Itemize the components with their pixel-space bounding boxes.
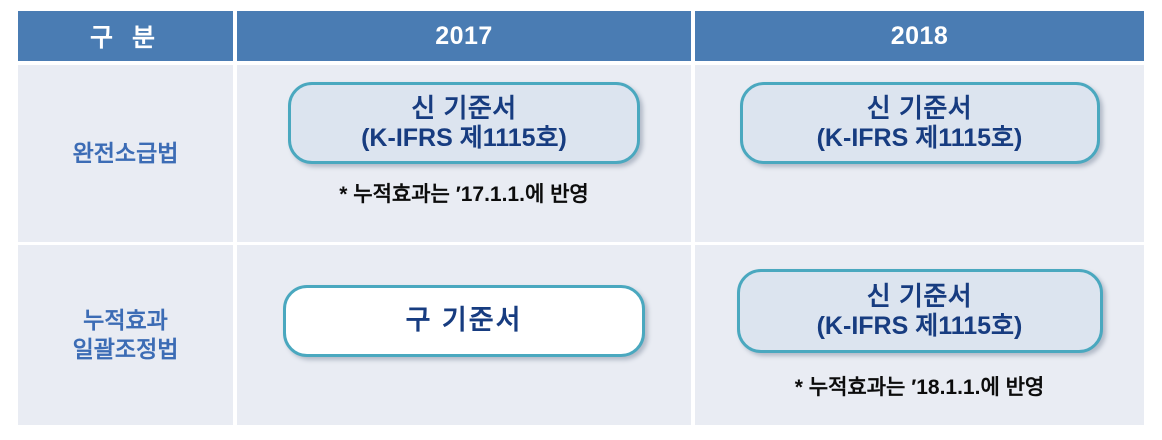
table-row: 완전소급법 신 기준서 (K-IFRS 제1115호) * 누적효과는 ′17.…	[18, 65, 1144, 242]
column-header-2018: 2018	[695, 11, 1144, 61]
table-header-row: 구 분 2017 2018	[18, 11, 1144, 61]
standard-box-subtitle: (K-IFRS 제1115호)	[817, 312, 1023, 342]
column-header-2017: 2017	[237, 11, 695, 61]
standard-box-title: 신 기준서	[867, 93, 972, 124]
column-header-category: 구 분	[18, 11, 237, 61]
footnote-retrospective-2017: * 누적효과는 ′17.1.1.에 반영	[339, 178, 589, 208]
cell-retrospective-2017: 신 기준서 (K-IFRS 제1115호) * 누적효과는 ′17.1.1.에 …	[237, 65, 695, 242]
cell-cumulative-2017: 구 기준서	[237, 245, 695, 425]
cell-retrospective-2018: 신 기준서 (K-IFRS 제1115호)	[695, 65, 1144, 242]
comparison-table: 구 분 2017 2018 완전소급법 신 기준서 (K-IFRS 제1115호…	[18, 11, 1144, 425]
row-label-cell-cumulative: 누적효과 일괄조정법	[18, 245, 237, 425]
row-label: 누적효과 일괄조정법	[73, 306, 179, 365]
cell-cumulative-2018: 신 기준서 (K-IFRS 제1115호) * 누적효과는 ′18.1.1.에 …	[695, 245, 1144, 425]
standard-box-subtitle: (K-IFRS 제1115호)	[361, 124, 567, 154]
row-label-cell-retrospective: 완전소급법	[18, 65, 237, 242]
standard-box-new-2017: 신 기준서 (K-IFRS 제1115호)	[288, 82, 640, 164]
table-row: 누적효과 일괄조정법 구 기준서 신 기준서 (K-IFRS 제1115호) *…	[18, 245, 1144, 425]
standard-box-new-2018-cumulative: 신 기준서 (K-IFRS 제1115호)	[737, 269, 1103, 353]
standard-box-new-2018: 신 기준서 (K-IFRS 제1115호)	[740, 82, 1100, 164]
standard-box-title: 구 기준서	[406, 305, 523, 337]
row-label: 완전소급법	[73, 139, 179, 168]
screenshot-canvas: 구 분 2017 2018 완전소급법 신 기준서 (K-IFRS 제1115호…	[0, 0, 1162, 440]
standard-box-title: 신 기준서	[411, 93, 516, 124]
footnote-cumulative-2018: * 누적효과는 ′18.1.1.에 반영	[795, 371, 1045, 401]
standard-box-title: 신 기준서	[867, 281, 972, 312]
standard-box-old-2017: 구 기준서	[283, 285, 645, 357]
standard-box-subtitle: (K-IFRS 제1115호)	[817, 124, 1023, 154]
